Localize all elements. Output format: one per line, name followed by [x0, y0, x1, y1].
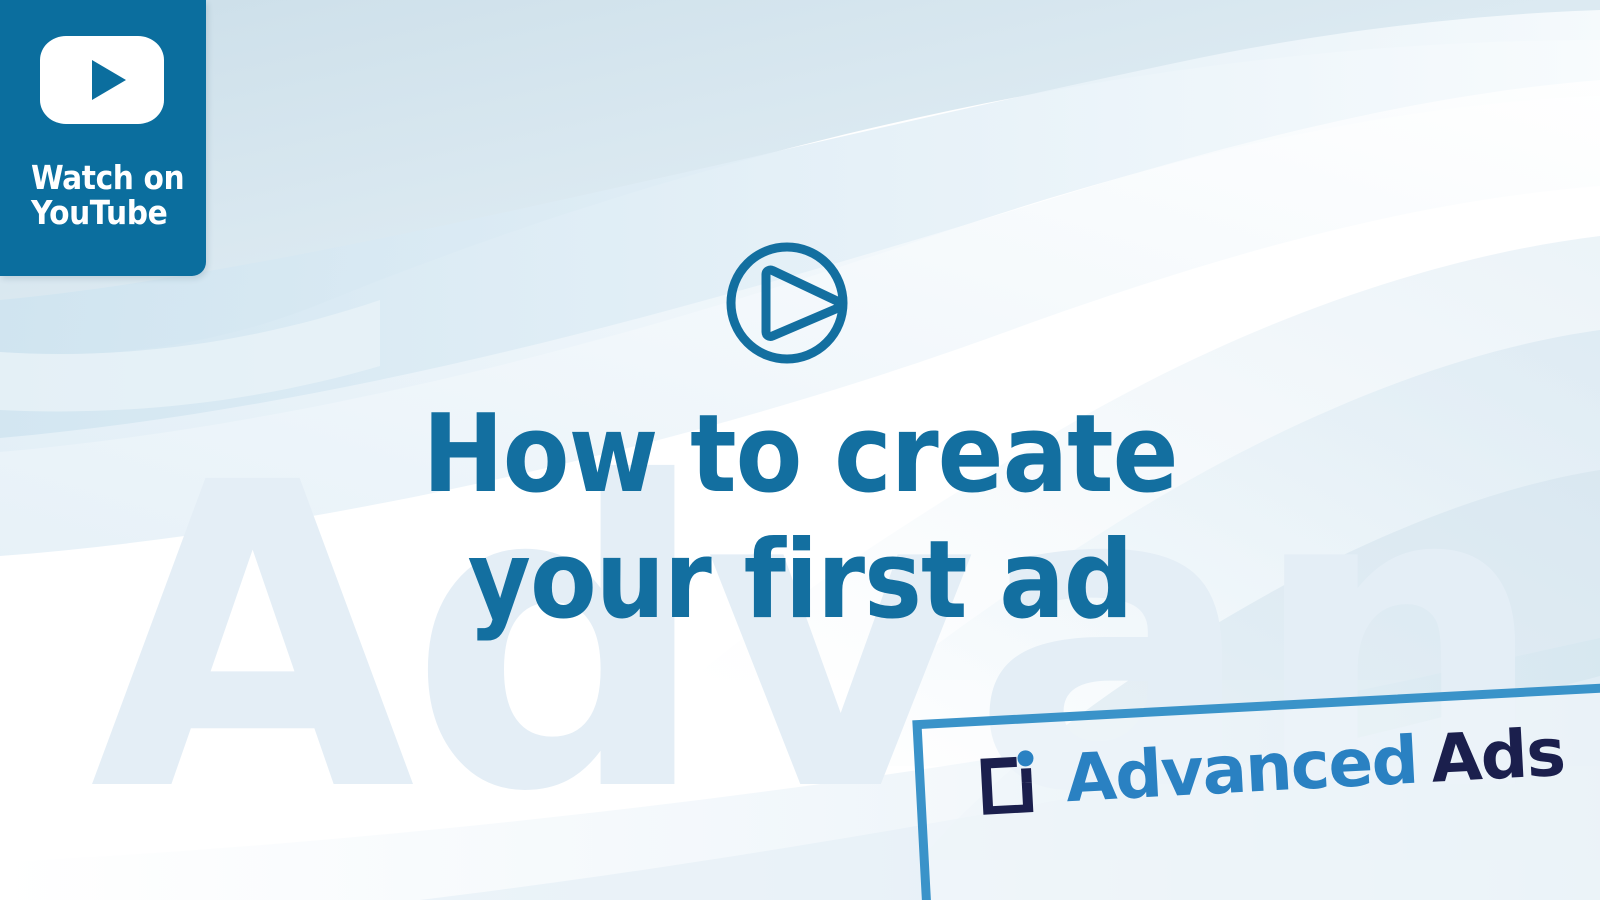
youtube-caption-line-2: YouTube [31, 195, 201, 230]
watch-on-youtube-badge[interactable]: Watch on YouTube [0, 0, 206, 276]
youtube-play-triangle-icon [92, 60, 126, 100]
headline-line-1: How to create [0, 392, 1600, 518]
play-circle-icon[interactable] [710, 238, 870, 372]
advanced-ads-bracket-icon [976, 747, 1045, 816]
logo-word-ads: Ads [1429, 714, 1566, 798]
thumbnail-canvas: Advan Watch on YouTube How to create you… [0, 0, 1600, 900]
brand-logo-card: AdvancedAds [880, 638, 1600, 900]
headline-line-2: your first ad [0, 518, 1600, 644]
youtube-play-icon [40, 36, 164, 124]
youtube-caption-line-1: Watch on [31, 160, 201, 195]
youtube-badge-caption: Watch on YouTube [31, 160, 201, 230]
page-title: How to create your first ad [0, 392, 1600, 644]
